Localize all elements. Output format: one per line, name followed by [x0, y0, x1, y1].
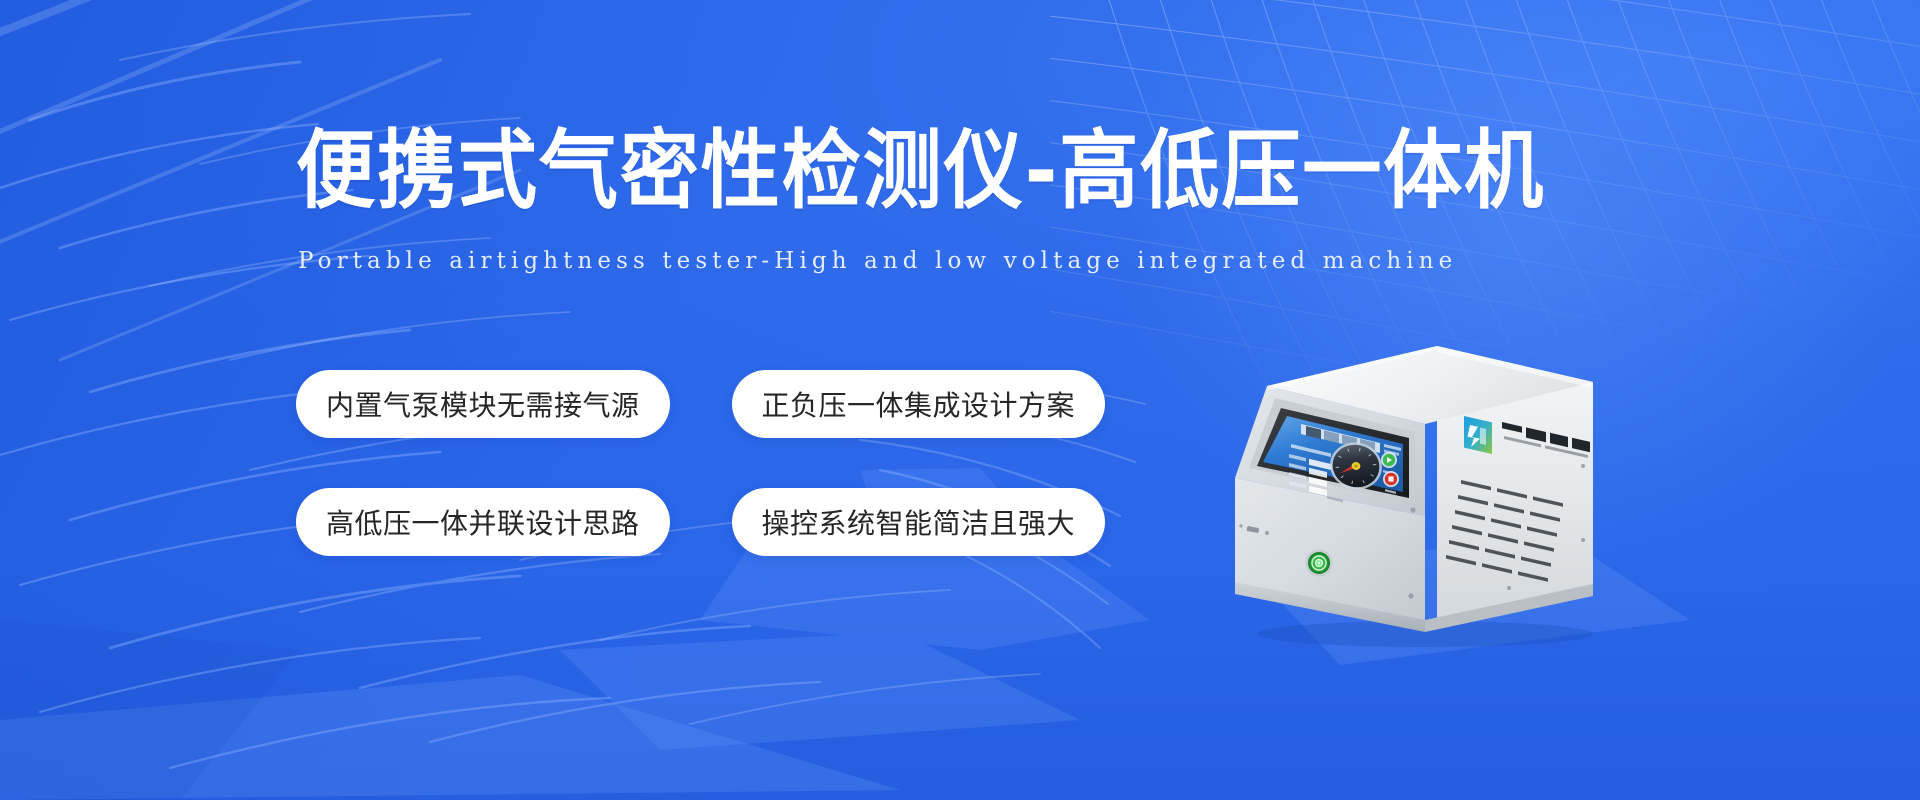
logo-mark-glyph-2	[1480, 428, 1486, 446]
feature-pill-3[interactable]: 高低压一体并联设计思路	[296, 488, 670, 556]
page-title: 便携式气密性检测仪-高低压一体机	[296, 128, 1547, 214]
feature-pill-list: 内置气泵模块无需接气源 正负压一体集成设计方案 高低压一体并联设计思路 操控系统…	[296, 370, 1126, 556]
promo-banner: 便携式气密性检测仪-高低压一体机 Portable airtightness t…	[0, 0, 1920, 800]
banner-content: 便携式气密性检测仪-高低压一体机 Portable airtightness t…	[0, 0, 1920, 800]
feature-pill-row-1: 内置气泵模块无需接气源 正负压一体集成设计方案	[296, 370, 1126, 438]
page-subtitle: Portable airtightness tester-High and lo…	[298, 248, 1668, 274]
product-device-image	[1175, 320, 1615, 650]
feature-pill-1[interactable]: 内置气泵模块无需接气源	[296, 370, 670, 438]
feature-pill-2[interactable]: 正负压一体集成设计方案	[732, 370, 1106, 438]
power-button	[1306, 550, 1333, 577]
feature-pill-4[interactable]: 操控系统智能简洁且强大	[732, 488, 1106, 556]
feature-pill-row-2: 高低压一体并联设计思路 操控系统智能简洁且强大	[296, 488, 1126, 556]
